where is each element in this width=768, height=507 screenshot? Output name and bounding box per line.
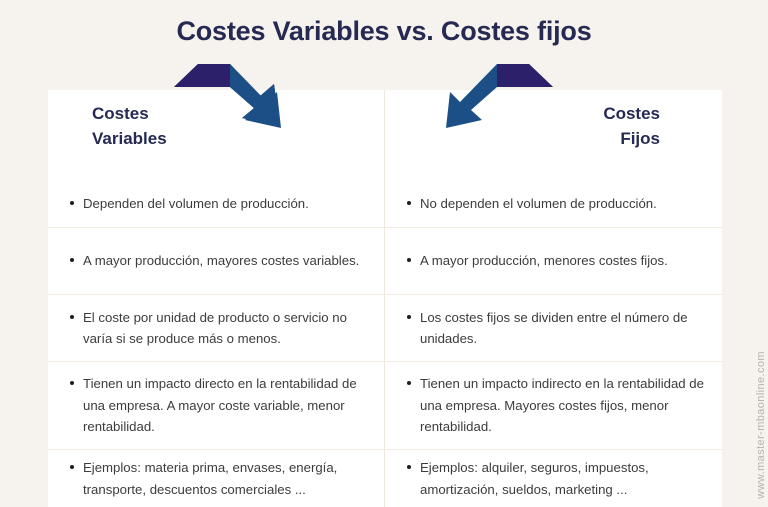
- list-item-text: No dependen el volumen de producción.: [420, 193, 657, 214]
- list-item-text: Los costes fijos se dividen entre el núm…: [420, 307, 706, 350]
- watermark: www.master-mbaonline.com: [755, 351, 767, 499]
- bullet-icon: [70, 465, 74, 469]
- list-item-text: Tienen un impacto directo en la rentabil…: [83, 373, 368, 437]
- arrow-down-left-icon: [441, 62, 559, 140]
- bullet-icon: [407, 381, 411, 385]
- bullet-icon: [70, 201, 74, 205]
- rows-variables: Dependen del volumen de producción. A ma…: [48, 177, 384, 507]
- column-header-label-variables: Costes Variables: [92, 102, 167, 151]
- comparison-card: Costes Variables Dependen del volumen de…: [48, 90, 722, 507]
- column-costes-fijos: Costes Fijos No dependen el volumen de p…: [385, 90, 722, 507]
- bullet-icon: [407, 315, 411, 319]
- list-item-text: El coste por unidad de producto o servic…: [83, 307, 368, 350]
- column-header-label-fijos: Costes Fijos: [603, 102, 660, 151]
- bullet-icon: [407, 465, 411, 469]
- list-item-text: A mayor producción, mayores costes varia…: [83, 250, 359, 271]
- bullet-icon: [70, 258, 74, 262]
- list-item: El coste por unidad de producto o servic…: [48, 294, 384, 361]
- list-item: No dependen el volumen de producción.: [385, 177, 722, 227]
- bullet-icon: [70, 381, 74, 385]
- column-header-fijos: Costes Fijos: [385, 90, 722, 177]
- list-item: Ejemplos: alquiler, seguros, impuestos, …: [385, 449, 722, 507]
- list-item-text: Ejemplos: alquiler, seguros, impuestos, …: [420, 457, 706, 500]
- list-item: A mayor producción, menores costes fijos…: [385, 227, 722, 294]
- list-item-text: Ejemplos: materia prima, envases, energí…: [83, 457, 368, 500]
- arrow-down-right-icon: [168, 62, 286, 140]
- list-item-text: A mayor producción, menores costes fijos…: [420, 250, 668, 271]
- comparison-columns: Costes Variables Dependen del volumen de…: [48, 90, 722, 507]
- list-item: Dependen del volumen de producción.: [48, 177, 384, 227]
- list-item: A mayor producción, mayores costes varia…: [48, 227, 384, 294]
- column-header-variables: Costes Variables: [48, 90, 384, 177]
- column-costes-variables: Costes Variables Dependen del volumen de…: [48, 90, 385, 507]
- list-item: Los costes fijos se dividen entre el núm…: [385, 294, 722, 361]
- list-item: Tienen un impacto indirecto en la rentab…: [385, 361, 722, 449]
- page-title: Costes Variables vs. Costes fijos: [0, 16, 768, 47]
- list-item-text: Tienen un impacto indirecto en la rentab…: [420, 373, 706, 437]
- bullet-icon: [70, 315, 74, 319]
- bullet-icon: [407, 201, 411, 205]
- list-item: Tienen un impacto directo en la rentabil…: [48, 361, 384, 449]
- list-item: Ejemplos: materia prima, envases, energí…: [48, 449, 384, 507]
- bullet-icon: [407, 258, 411, 262]
- rows-fijos: No dependen el volumen de producción. A …: [385, 177, 722, 507]
- list-item-text: Dependen del volumen de producción.: [83, 193, 309, 214]
